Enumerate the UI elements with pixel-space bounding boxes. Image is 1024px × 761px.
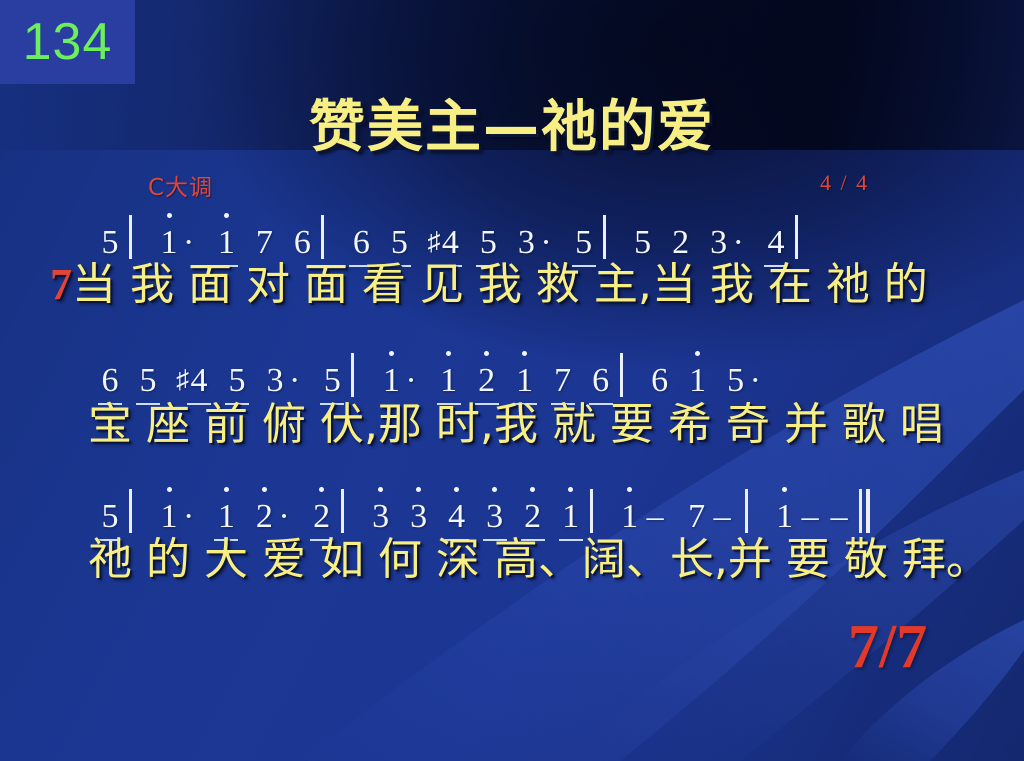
note-5: 5 <box>633 226 653 260</box>
note-5: 5 <box>478 226 498 260</box>
note-glyph: 2 <box>523 500 543 534</box>
notation-row-3: 51·12·23343211–7–1–– <box>100 489 872 534</box>
sharp-accidental-icon: ♯ <box>427 227 440 256</box>
note-4: ♯4 <box>427 226 460 260</box>
note-glyph: 1 <box>216 500 236 534</box>
note-glyph: 7 <box>687 500 707 534</box>
lyrics-row-1: 7当 我 面 对 面 看 见 我 救 主,当 我 在 祂 的 <box>50 263 928 307</box>
note-glyph: 6 <box>292 226 312 260</box>
duration-dot: · <box>274 500 293 534</box>
note-1: 1 <box>159 226 179 260</box>
note-3: 3 <box>516 226 536 260</box>
sustain-dash: – <box>801 500 820 534</box>
note-3: 3 <box>371 500 391 534</box>
note-2: 2 <box>671 226 691 260</box>
note-glyph: 5 <box>227 364 247 398</box>
sharp-accidental-icon: ♯ <box>176 365 189 394</box>
note-5: 5 <box>138 364 158 398</box>
barline <box>321 215 324 259</box>
page-number: 134 <box>23 16 113 68</box>
sustain-dash: – <box>713 500 732 534</box>
note-7: 7 <box>687 500 707 534</box>
note-glyph: 3 <box>265 364 285 398</box>
note-5: 5 <box>726 364 746 398</box>
barline <box>620 353 623 397</box>
note-5: 5 <box>389 226 409 260</box>
note-1: 1 <box>216 500 236 534</box>
note-glyph: 1 <box>439 364 459 398</box>
note-5: 5 <box>322 364 342 398</box>
note-7: 7 <box>254 226 274 260</box>
note-3: 3 <box>409 500 429 534</box>
note-1: 1 <box>515 364 535 398</box>
slide-canvas: 134 赞美主—祂的爱 C大调 4 / 4 51·17665♯453·5523·… <box>0 0 1024 761</box>
note-5: 5 <box>100 500 120 534</box>
note-glyph: 1 <box>159 500 179 534</box>
note-glyph: 2 <box>254 500 274 534</box>
time-signature-label: 4 / 4 <box>820 170 869 196</box>
note-glyph: 3 <box>709 226 729 260</box>
note-1: 1 <box>381 364 401 398</box>
note-3: 3 <box>709 226 729 260</box>
note-5: 5 <box>100 226 120 260</box>
barline <box>590 489 593 533</box>
final-double-barline <box>859 489 870 533</box>
duration-dot: · <box>729 226 748 260</box>
page-number-badge: 134 <box>0 0 135 84</box>
note-6: 6 <box>650 364 670 398</box>
note-2: 2 <box>254 500 274 534</box>
note-glyph: 5 <box>100 500 120 534</box>
note-glyph: 7 <box>553 364 573 398</box>
note-3: 3 <box>485 500 505 534</box>
note-glyph: 2 <box>671 226 691 260</box>
note-1: 1 <box>159 500 179 534</box>
note-glyph: 5 <box>100 226 120 260</box>
note-glyph: 6 <box>100 364 120 398</box>
lyrics-text-1: 当 我 面 对 面 看 见 我 救 主,当 我 在 祂 的 <box>72 259 928 310</box>
note-glyph: 1 <box>159 226 179 260</box>
note-glyph: 4 <box>447 500 467 534</box>
note-glyph: 1 <box>381 364 401 398</box>
verse-count-label: 7/7 <box>848 612 927 683</box>
note-5: 5 <box>574 226 594 260</box>
note-glyph: 5 <box>574 226 594 260</box>
note-5: 5 <box>227 364 247 398</box>
duration-dot: · <box>179 500 198 534</box>
note-glyph: 2 <box>312 500 332 534</box>
note-3: 3 <box>265 364 285 398</box>
note-glyph: 3 <box>485 500 505 534</box>
note-glyph: 1 <box>561 500 581 534</box>
note-2: 2 <box>312 500 332 534</box>
note-glyph: 2 <box>477 364 497 398</box>
stanza-number: 7 <box>50 260 72 309</box>
note-glyph: 1 <box>620 500 640 534</box>
barline <box>795 215 798 259</box>
note-glyph: 4 <box>189 364 209 398</box>
note-glyph: 1 <box>775 500 795 534</box>
note-glyph: 1 <box>688 364 708 398</box>
duration-dot: · <box>746 364 765 398</box>
barline <box>603 215 606 259</box>
note-glyph: 7 <box>254 226 274 260</box>
barline <box>745 489 748 533</box>
note-4: 4 <box>447 500 467 534</box>
note-6: 6 <box>351 226 371 260</box>
sustain-dash: – <box>646 500 665 534</box>
key-signature-label: C大调 <box>148 168 213 202</box>
note-glyph: 1 <box>216 226 236 260</box>
note-glyph: 3 <box>371 500 391 534</box>
note-1: 1 <box>439 364 459 398</box>
note-glyph: 5 <box>138 364 158 398</box>
notation-row-1: 51·17665♯453·5523·4 <box>100 215 807 260</box>
note-6: 6 <box>100 364 120 398</box>
note-glyph: 6 <box>591 364 611 398</box>
lyrics-row-3: 祂 的 大 爱 如 何 深 高、阔、长,并 要 敬 拜。 <box>88 538 990 582</box>
note-glyph: 3 <box>409 500 429 534</box>
note-glyph: 6 <box>650 364 670 398</box>
note-7: 7 <box>553 364 573 398</box>
page-title: 赞美主—祂的爱 <box>0 82 1024 163</box>
note-glyph: 5 <box>633 226 653 260</box>
notation-row-2: 65♯453·51·12176615· <box>100 353 765 398</box>
note-glyph: 3 <box>516 226 536 260</box>
note-4: ♯4 <box>176 364 209 398</box>
note-6: 6 <box>292 226 312 260</box>
lyrics-row-2: 宝 座 前 俯 伏,那 时,我 就 要 希 奇 并 歌 唱 <box>88 403 944 447</box>
note-6: 6 <box>591 364 611 398</box>
barline <box>351 353 354 397</box>
barline <box>129 489 132 533</box>
note-1: 1 <box>775 500 795 534</box>
duration-dot: · <box>179 226 198 260</box>
note-2: 2 <box>477 364 497 398</box>
note-glyph: 5 <box>322 364 342 398</box>
note-glyph: 5 <box>726 364 746 398</box>
note-glyph: 5 <box>478 226 498 260</box>
note-glyph: 5 <box>389 226 409 260</box>
note-1: 1 <box>620 500 640 534</box>
duration-dot: · <box>285 364 304 398</box>
note-1: 1 <box>216 226 236 260</box>
sustain-dash: – <box>830 500 849 534</box>
note-glyph: 4 <box>766 226 786 260</box>
note-glyph: 4 <box>440 226 460 260</box>
barline <box>341 489 344 533</box>
note-1: 1 <box>561 500 581 534</box>
note-2: 2 <box>523 500 543 534</box>
note-1: 1 <box>688 364 708 398</box>
note-glyph: 1 <box>515 364 535 398</box>
duration-dot: · <box>536 226 555 260</box>
note-4: 4 <box>766 226 786 260</box>
barline <box>129 215 132 259</box>
note-glyph: 6 <box>351 226 371 260</box>
duration-dot: · <box>401 364 420 398</box>
